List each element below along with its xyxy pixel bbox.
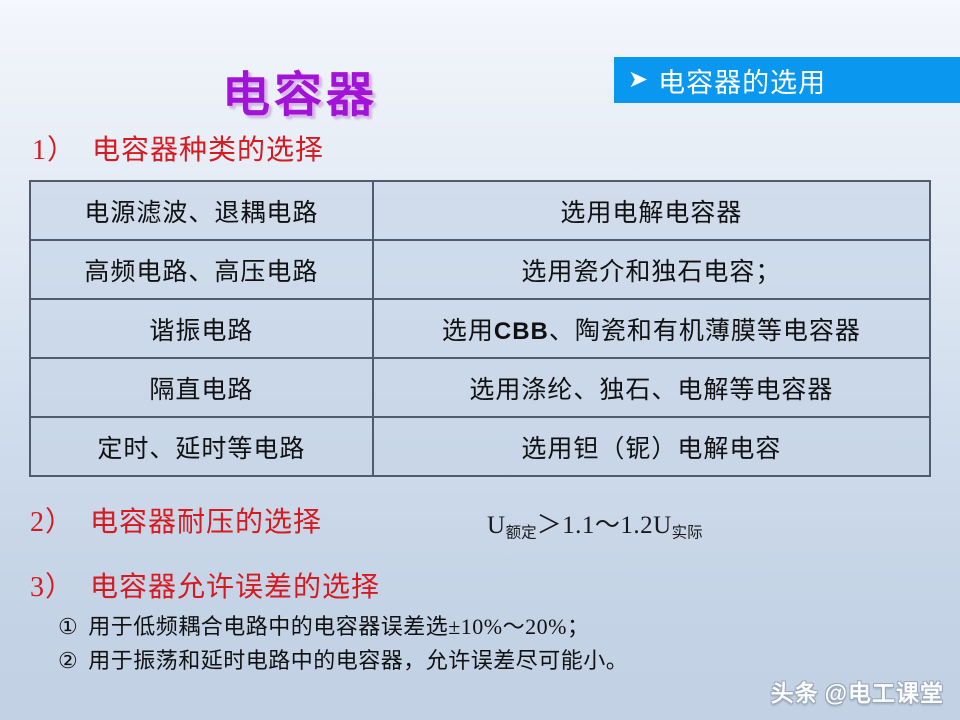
table-cell-circuit: 隔直电路 bbox=[30, 358, 373, 417]
table-cell-circuit: 电源滤波、退耦电路 bbox=[30, 181, 373, 240]
list-item-text: 用于振荡和延时电路中的电容器，允许误差尽可能小。 bbox=[88, 648, 628, 673]
capacitor-selection-table: 电源滤波、退耦电路 选用电解电容器 高频电路、高压电路 选用瓷介和独石电容； 谐… bbox=[29, 180, 931, 477]
formula-operator: ＞1.1～1.2 bbox=[537, 512, 654, 539]
table-cell-recommendation: 选用电解电容器 bbox=[373, 181, 930, 240]
section-banner-label: 电容器的选用 bbox=[658, 61, 826, 100]
table-cell-circuit: 谐振电路 bbox=[30, 299, 373, 358]
table-row: 隔直电路 选用涤纶、独石、电解等电容器 bbox=[30, 358, 930, 417]
table-cell-recommendation: 选用CBB、陶瓷和有机薄膜等电容器 bbox=[373, 299, 930, 358]
table-row: 谐振电路 选用CBB、陶瓷和有机薄膜等电容器 bbox=[30, 299, 930, 358]
section-heading-2: 2）电容器耐压的选择 bbox=[30, 500, 322, 540]
table-cell-circuit: 高频电路、高压电路 bbox=[30, 240, 373, 299]
table-row: 高频电路、高压电路 选用瓷介和独石电容； bbox=[30, 240, 930, 299]
watermark: 头条@电工课堂 bbox=[771, 674, 944, 708]
chevron-right-icon: ➤ bbox=[628, 67, 648, 91]
section-heading-1-text: 电容器种类的选择 bbox=[92, 135, 324, 166]
recommendation-suffix: 、陶瓷和有机薄膜等电容器 bbox=[549, 318, 861, 345]
formula-subscript-rated: 额定 bbox=[506, 524, 537, 541]
section-heading-3-number: 3） bbox=[30, 572, 74, 603]
formula-symbol-actual: U bbox=[653, 512, 672, 539]
section-banner: ➤ 电容器的选用 bbox=[614, 57, 960, 103]
list-item-marker: ① bbox=[58, 614, 78, 639]
list-item-text: 用于低频耦合电路中的电容器误差选±10%～20%； bbox=[88, 614, 589, 639]
table-cell-recommendation: 选用涤纶、独石、电解等电容器 bbox=[373, 358, 930, 417]
section-heading-1: 1）电容器种类的选择 bbox=[32, 128, 324, 168]
recommendation-code: CBB bbox=[494, 318, 549, 345]
page-title: 电容器 bbox=[0, 55, 600, 125]
table-row: 定时、延时等电路 选用钽（铌）电解电容 bbox=[30, 417, 930, 476]
section-heading-1-number: 1） bbox=[32, 135, 76, 166]
watermark-handle: @电工课堂 bbox=[825, 680, 944, 706]
table-cell-recommendation: 选用瓷介和独石电容； bbox=[373, 240, 930, 299]
list-item-marker: ② bbox=[58, 648, 78, 673]
table-row: 电源滤波、退耦电路 选用电解电容器 bbox=[30, 181, 930, 240]
formula-symbol-rated: U bbox=[487, 512, 506, 539]
section-heading-2-text: 电容器耐压的选择 bbox=[90, 507, 322, 538]
list-item: ①用于低频耦合电路中的电容器误差选±10%～20%； bbox=[58, 609, 589, 641]
section-heading-3-text: 电容器允许误差的选择 bbox=[90, 572, 380, 603]
table-cell-circuit: 定时、延时等电路 bbox=[30, 417, 373, 476]
list-item: ②用于振荡和延时电路中的电容器，允许误差尽可能小。 bbox=[58, 643, 628, 675]
table-cell-recommendation: 选用钽（铌）电解电容 bbox=[373, 417, 930, 476]
section-heading-3: 3）电容器允许误差的选择 bbox=[30, 565, 380, 605]
voltage-formula: U额定＞1.1～1.2U实际 bbox=[487, 505, 703, 542]
watermark-tag: 头条 bbox=[771, 680, 819, 706]
section-heading-2-number: 2） bbox=[30, 507, 74, 538]
slide-canvas: 电容器 ➤ 电容器的选用 1）电容器种类的选择 电源滤波、退耦电路 选用电解电容… bbox=[0, 0, 960, 720]
recommendation-prefix: 选用 bbox=[442, 318, 494, 345]
formula-subscript-actual: 实际 bbox=[672, 524, 703, 541]
